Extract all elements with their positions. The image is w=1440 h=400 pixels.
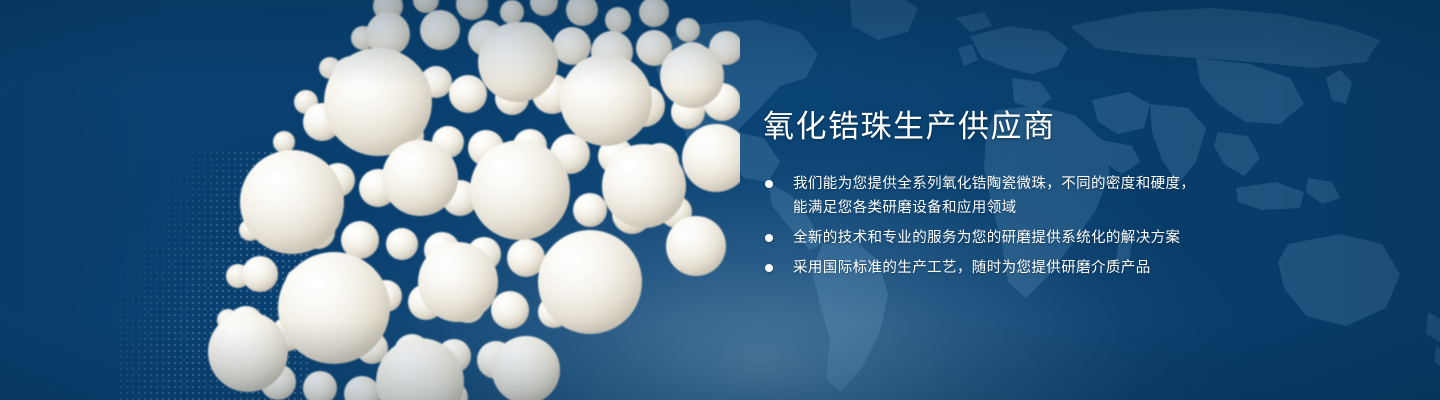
list-item-line: 全新的技术和专业的服务为您的研磨提供系统化的解决方案 [793,226,1383,250]
hero-banner: 氧化锆珠生产供应商 我们能为您提供全系列氧化锆陶瓷微珠，不同的密度和硬度， 能满… [0,0,1440,400]
feature-list: 我们能为您提供全系列氧化锆陶瓷微珠，不同的密度和硬度， 能满足您各类研磨设备和应… [763,172,1383,280]
list-item: 我们能为您提供全系列氧化锆陶瓷微珠，不同的密度和硬度， 能满足您各类研磨设备和应… [763,172,1383,220]
bullet-dot-icon [765,180,773,188]
bullet-dot-icon [765,264,773,272]
list-item-line: 能满足您各类研磨设备和应用领域 [793,196,1383,220]
list-item-line: 我们能为您提供全系列氧化锆陶瓷微珠，不同的密度和硬度， [793,172,1383,196]
page-title: 氧化锆珠生产供应商 [763,108,1383,146]
list-item: 全新的技术和专业的服务为您的研磨提供系统化的解决方案 [763,226,1383,250]
zirconia-beads-image [120,0,740,400]
list-item-line: 采用国际标准的生产工艺，随时为您提供研磨介质产品 [793,256,1383,280]
banner-copy: 氧化锆珠生产供应商 我们能为您提供全系列氧化锆陶瓷微珠，不同的密度和硬度， 能满… [763,108,1383,280]
bullet-dot-icon [765,234,773,242]
list-item: 采用国际标准的生产工艺，随时为您提供研磨介质产品 [763,256,1383,280]
